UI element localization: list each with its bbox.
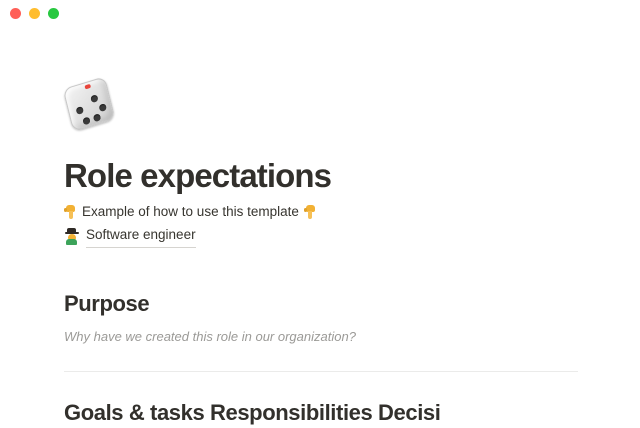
bottom-heading-clip: Goals & tasks Responsibilities Decisi [0, 399, 640, 428]
die-pip [82, 117, 90, 125]
template-hint-text: Example of how to use this template [82, 202, 299, 222]
document-page: Role expectations Example of how to use … [0, 28, 640, 400]
point-down-icon [304, 205, 317, 220]
die-pip [90, 94, 98, 102]
template-hint-line: Example of how to use this template [64, 202, 317, 222]
die-pip [99, 103, 107, 111]
window-title-bar [0, 0, 640, 28]
point-down-icon [64, 205, 77, 220]
section-description-purpose[interactable]: Why have we created this role in our org… [64, 327, 356, 346]
section-heading-goals-responsibilities[interactable]: Goals & tasks Responsibilities Decisi [64, 399, 440, 427]
die-pip [76, 106, 84, 114]
die-pip [93, 113, 101, 121]
section-heading-purpose[interactable]: Purpose [64, 290, 149, 318]
maximize-button[interactable] [48, 8, 59, 19]
die-pip-top [84, 84, 91, 90]
die-shape [63, 76, 116, 132]
role-link[interactable]: Software engineer [86, 224, 196, 248]
close-button[interactable] [10, 8, 21, 19]
section-divider [64, 371, 578, 372]
person-icon [64, 228, 80, 245]
die-face [63, 76, 116, 132]
traffic-light-buttons [10, 8, 59, 19]
game-die-icon[interactable] [64, 76, 120, 132]
minimize-button[interactable] [29, 8, 40, 19]
role-line: Software engineer [64, 224, 196, 248]
page-title[interactable]: Role expectations [64, 156, 331, 196]
